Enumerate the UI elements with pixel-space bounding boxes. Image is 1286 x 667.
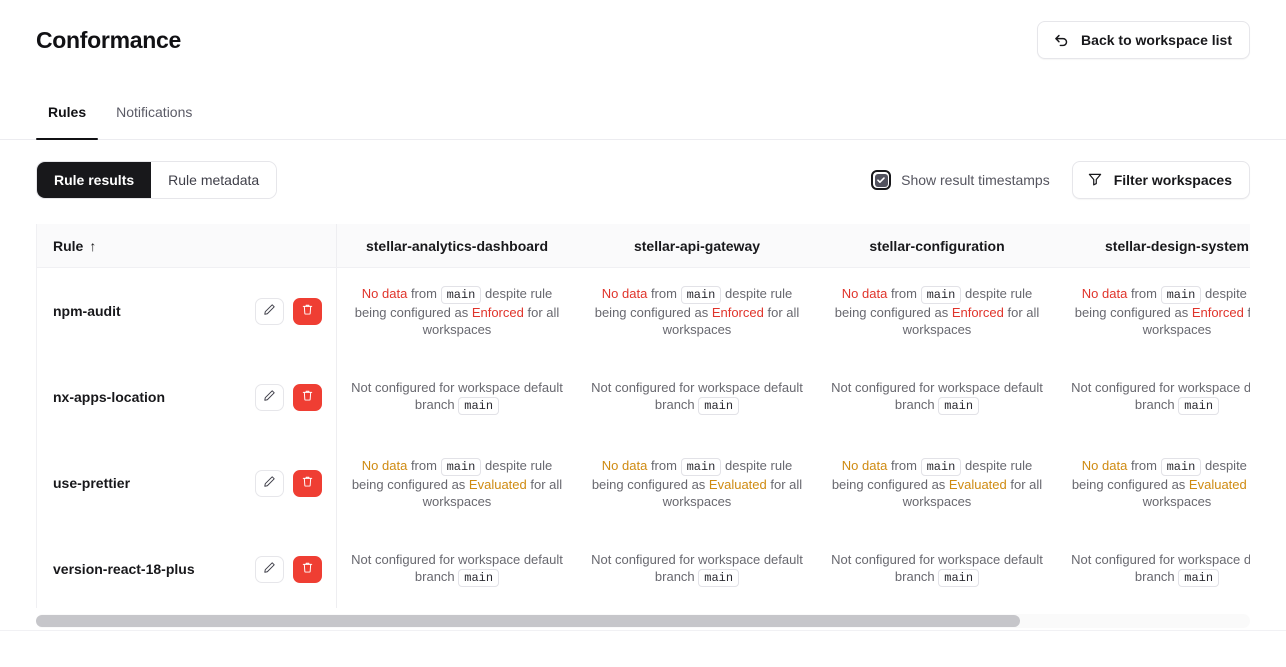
rule-status: Evaluated — [709, 477, 767, 492]
rule-status: Evaluated — [469, 477, 527, 492]
result-cell[interactable]: Not configured for workspace default bra… — [337, 354, 577, 440]
result-cell[interactable]: No data from main despite rule being con… — [337, 440, 577, 526]
no-data-flag: No data — [602, 458, 648, 473]
branch-chip: main — [1178, 569, 1219, 587]
result-message: No data from main despite rule being con… — [589, 457, 805, 510]
result-message: Not configured for workspace default bra… — [829, 379, 1045, 415]
branch-chip: main — [1178, 397, 1219, 415]
table-row: use-prettierNo data from main despite ru… — [37, 440, 1250, 526]
no-data-flag: No data — [1082, 286, 1128, 301]
rule-name: nx-apps-location — [53, 389, 165, 405]
rule-status: Enforced — [712, 305, 764, 320]
trash-icon — [301, 561, 314, 577]
result-message: Not configured for workspace default bra… — [349, 379, 565, 415]
result-cell[interactable]: No data from main despite rule being con… — [817, 268, 1057, 354]
result-cell[interactable]: No data from main despite rule being con… — [337, 268, 577, 354]
result-message: Not configured for workspace default bra… — [1069, 379, 1250, 415]
funnel-icon — [1087, 171, 1103, 190]
rule-status: Enforced — [472, 305, 524, 320]
rule-actions — [255, 298, 322, 325]
edit-rule-button[interactable] — [255, 298, 284, 325]
rule-header-label: Rule — [53, 238, 83, 254]
tab-notifications[interactable]: Notifications — [104, 104, 204, 139]
view-mode-segmented-control: Rule results Rule metadata — [36, 161, 277, 199]
segment-rule-results[interactable]: Rule results — [37, 162, 151, 198]
rule-name: version-react-18-plus — [53, 561, 195, 577]
rule-status: Enforced — [1192, 305, 1244, 320]
rule-actions — [255, 384, 322, 411]
column-header-workspace[interactable]: stellar-design-system — [1057, 224, 1250, 267]
table-body: npm-auditNo data from main despite rule … — [37, 268, 1250, 608]
result-message: No data from main despite rule being con… — [589, 285, 805, 338]
result-cell[interactable]: Not configured for workspace default bra… — [1057, 354, 1250, 440]
pencil-icon — [263, 303, 276, 319]
segment-rule-metadata[interactable]: Rule metadata — [151, 162, 276, 198]
result-cell[interactable]: Not configured for workspace default bra… — [337, 526, 577, 608]
branch-chip: main — [938, 569, 979, 587]
horizontal-scrollbar-thumb[interactable] — [36, 615, 1020, 627]
back-button-label: Back to workspace list — [1081, 32, 1232, 48]
edit-rule-button[interactable] — [255, 556, 284, 583]
branch-chip: main — [441, 458, 482, 476]
rule-cell: use-prettier — [37, 440, 337, 526]
result-cell[interactable]: No data from main despite rule being con… — [817, 440, 1057, 526]
trash-icon — [301, 389, 314, 405]
results-toolbar: Rule results Rule metadata Show result t… — [0, 160, 1286, 200]
rule-name: use-prettier — [53, 475, 130, 491]
show-result-timestamps-toggle[interactable]: Show result timestamps — [871, 170, 1050, 190]
branch-chip: main — [441, 286, 482, 304]
result-message: No data from main despite rule being con… — [829, 457, 1045, 510]
pencil-icon — [263, 475, 276, 491]
rule-cell: nx-apps-location — [37, 354, 337, 440]
tab-rules[interactable]: Rules — [36, 104, 98, 139]
rule-actions — [255, 470, 322, 497]
filter-workspaces-button[interactable]: Filter workspaces — [1072, 161, 1250, 199]
page-bottom-divider — [0, 630, 1286, 631]
pencil-icon — [263, 389, 276, 405]
result-message: Not configured for workspace default bra… — [1069, 551, 1250, 587]
rule-name: npm-audit — [53, 303, 121, 319]
result-message: No data from main despite rule being con… — [1069, 285, 1250, 338]
branch-chip: main — [458, 569, 499, 587]
branch-chip: main — [681, 458, 722, 476]
pencil-icon — [263, 561, 276, 577]
rule-actions — [255, 556, 322, 583]
branch-chip: main — [698, 397, 739, 415]
table-row: npm-auditNo data from main despite rule … — [37, 268, 1250, 354]
result-cell[interactable]: Not configured for workspace default bra… — [817, 354, 1057, 440]
delete-rule-button[interactable] — [293, 384, 322, 411]
rule-cell: version-react-18-plus — [37, 526, 337, 608]
column-header-rule[interactable]: Rule ↑ — [37, 224, 337, 267]
delete-rule-button[interactable] — [293, 556, 322, 583]
result-message: No data from main despite rule being con… — [349, 457, 565, 510]
result-cell[interactable]: No data from main despite rule being con… — [577, 268, 817, 354]
no-data-flag: No data — [602, 286, 648, 301]
branch-chip: main — [921, 458, 962, 476]
toolbar-right-group: Show result timestamps Filter workspaces — [871, 161, 1250, 199]
sort-ascending-icon: ↑ — [89, 238, 96, 254]
page-title: Conformance — [36, 27, 181, 54]
edit-rule-button[interactable] — [255, 470, 284, 497]
rule-status: Enforced — [952, 305, 1004, 320]
result-message: Not configured for workspace default bra… — [589, 379, 805, 415]
result-cell[interactable]: Not configured for workspace default bra… — [577, 526, 817, 608]
table-header-row: Rule ↑ stellar-analytics-dashboard stell… — [37, 224, 1250, 268]
page-header: Conformance Back to workspace list — [0, 0, 1286, 80]
rule-results-table: Rule ↑ stellar-analytics-dashboard stell… — [37, 224, 1250, 608]
result-message: No data from main despite rule being con… — [1069, 457, 1250, 510]
checkmark-icon — [876, 175, 886, 185]
checkbox-fill — [875, 174, 888, 187]
show-timestamps-checkbox[interactable] — [871, 170, 891, 190]
result-cell[interactable]: No data from main despite rule being con… — [1057, 440, 1250, 526]
table-row: version-react-18-plusNot configured for … — [37, 526, 1250, 608]
branch-chip: main — [938, 397, 979, 415]
back-to-workspace-list-button[interactable]: Back to workspace list — [1037, 21, 1250, 59]
delete-rule-button[interactable] — [293, 298, 322, 325]
branch-chip: main — [681, 286, 722, 304]
filter-button-label: Filter workspaces — [1114, 172, 1232, 188]
delete-rule-button[interactable] — [293, 470, 322, 497]
branch-chip: main — [1161, 286, 1202, 304]
column-header-workspace[interactable]: stellar-api-gateway — [577, 224, 817, 267]
result-cell[interactable]: No data from main despite rule being con… — [1057, 268, 1250, 354]
rule-results-table-viewport: Rule ↑ stellar-analytics-dashboard stell… — [36, 224, 1250, 608]
conformance-page: Conformance Back to workspace list Rules… — [0, 0, 1286, 667]
no-data-flag: No data — [362, 458, 408, 473]
branch-chip: main — [921, 286, 962, 304]
column-header-workspace[interactable]: stellar-analytics-dashboard — [337, 224, 577, 267]
result-message: Not configured for workspace default bra… — [349, 551, 565, 587]
trash-icon — [301, 475, 314, 491]
result-cell[interactable]: Not configured for workspace default bra… — [817, 526, 1057, 608]
result-message: No data from main despite rule being con… — [349, 285, 565, 338]
result-message: Not configured for workspace default bra… — [829, 551, 1045, 587]
result-cell[interactable]: Not configured for workspace default bra… — [1057, 526, 1250, 608]
rule-status: Evaluated — [949, 477, 1007, 492]
undo-arrow-icon — [1053, 32, 1070, 49]
no-data-flag: No data — [1082, 458, 1128, 473]
no-data-flag: No data — [362, 286, 408, 301]
result-message: Not configured for workspace default bra… — [589, 551, 805, 587]
branch-chip: main — [698, 569, 739, 587]
table-row: nx-apps-locationNot configured for works… — [37, 354, 1250, 440]
no-data-flag: No data — [842, 458, 888, 473]
branch-chip: main — [458, 397, 499, 415]
primary-tabs: Rules Notifications — [0, 104, 1286, 140]
no-data-flag: No data — [842, 286, 888, 301]
trash-icon — [301, 303, 314, 319]
branch-chip: main — [1161, 458, 1202, 476]
rule-status: Evaluated — [1189, 477, 1247, 492]
show-timestamps-label: Show result timestamps — [901, 172, 1050, 188]
result-cell[interactable]: Not configured for workspace default bra… — [577, 354, 817, 440]
horizontal-scrollbar-track[interactable] — [36, 614, 1250, 628]
rule-cell: npm-audit — [37, 268, 337, 354]
result-message: No data from main despite rule being con… — [829, 285, 1045, 338]
edit-rule-button[interactable] — [255, 384, 284, 411]
result-cell[interactable]: No data from main despite rule being con… — [577, 440, 817, 526]
column-header-workspace[interactable]: stellar-configuration — [817, 224, 1057, 267]
